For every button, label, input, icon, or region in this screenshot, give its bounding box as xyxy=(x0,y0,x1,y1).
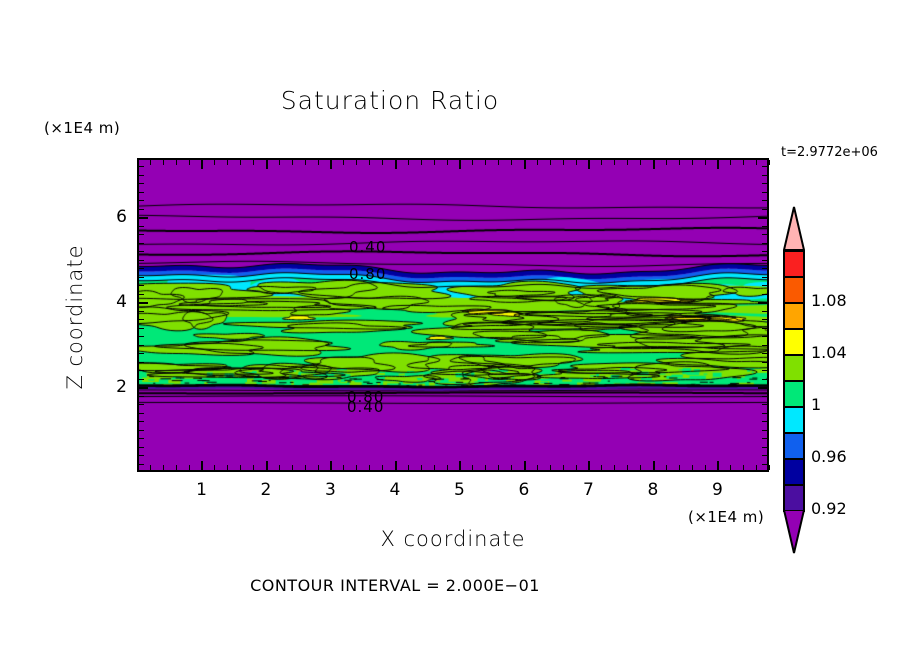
y-axis-tick xyxy=(139,294,144,295)
x-axis-title: X coordinate xyxy=(137,527,769,551)
y-axis-tick xyxy=(139,268,144,269)
x-axis-tick xyxy=(601,465,602,470)
colorbar-top-arrow xyxy=(783,206,805,250)
y-axis-tick xyxy=(139,226,144,227)
y-axis-unit-label: (×1E4 m) xyxy=(44,119,120,137)
y-axis-tick xyxy=(762,166,767,167)
x-axis-tick xyxy=(356,160,357,165)
x-axis-tick xyxy=(614,160,615,165)
x-axis-tick xyxy=(730,160,731,165)
x-axis-tick xyxy=(266,160,268,169)
colorbar-band xyxy=(783,302,805,330)
x-axis-tick xyxy=(201,461,203,470)
x-axis-tick xyxy=(640,160,641,165)
x-axis-tick-label: 9 xyxy=(702,480,732,500)
x-axis-tick xyxy=(511,465,512,470)
y-axis-tick xyxy=(139,345,144,346)
y-axis-tick xyxy=(762,192,767,193)
x-axis-tick xyxy=(266,461,268,470)
x-axis-tick xyxy=(692,160,693,165)
x-axis-tick xyxy=(459,160,461,169)
x-axis-tick xyxy=(382,160,383,165)
y-axis-tick xyxy=(762,396,767,397)
x-axis-tick xyxy=(189,465,190,470)
x-axis-tick xyxy=(330,461,332,470)
x-axis-tick xyxy=(679,160,680,165)
contour-field: 0.400.800.800.40 xyxy=(137,158,769,472)
x-axis-tick xyxy=(756,465,757,470)
y-axis-tick xyxy=(758,217,767,219)
x-axis-tick xyxy=(705,160,706,165)
colorbar-band xyxy=(783,328,805,356)
y-axis-tick xyxy=(139,166,144,167)
y-axis-tick xyxy=(762,260,767,261)
y-axis-tick xyxy=(762,370,767,371)
x-axis-tick xyxy=(588,160,590,169)
y-axis-tick xyxy=(762,328,767,329)
colorbar-tick-label: 1 xyxy=(811,395,821,414)
y-axis-tick xyxy=(139,336,144,337)
colorbar-band xyxy=(783,276,805,304)
y-axis-tick xyxy=(762,294,767,295)
y-axis-tick xyxy=(762,175,767,176)
x-axis-tick xyxy=(537,160,538,165)
x-axis-tick xyxy=(576,465,577,470)
y-axis-tick xyxy=(762,243,767,244)
x-axis-unit-label: (×1E4 m) xyxy=(688,508,764,526)
x-axis-tick xyxy=(227,160,228,165)
x-axis-tick xyxy=(511,160,512,165)
y-axis-tick xyxy=(762,345,767,346)
x-axis-tick xyxy=(279,465,280,470)
x-axis-tick xyxy=(343,465,344,470)
x-axis-tick xyxy=(524,461,526,470)
x-axis-tick xyxy=(550,160,551,165)
colorbar-tick-label: 0.92 xyxy=(811,499,847,518)
x-axis-tick xyxy=(240,465,241,470)
x-axis-tick xyxy=(150,465,151,470)
x-axis-tick xyxy=(498,465,499,470)
colorbar-band xyxy=(783,354,805,382)
x-axis-tick xyxy=(305,160,306,165)
y-axis-tick xyxy=(139,260,144,261)
y-axis-tick xyxy=(762,158,767,159)
x-axis-tick xyxy=(434,160,435,165)
x-axis-tick xyxy=(318,160,319,165)
x-axis-tick xyxy=(343,160,344,165)
colorbar-band xyxy=(783,484,805,512)
y-axis-tick xyxy=(139,353,144,354)
x-axis-tick xyxy=(408,160,409,165)
y-axis-tick xyxy=(139,464,144,465)
y-axis-tick xyxy=(139,455,144,456)
y-axis-tick xyxy=(139,243,144,244)
colorbar-tick-label: 0.96 xyxy=(811,447,847,466)
y-axis-tick xyxy=(139,396,144,397)
x-axis-tick xyxy=(653,461,655,470)
y-axis-tick xyxy=(762,268,767,269)
colorbar-band xyxy=(783,406,805,434)
x-axis-tick xyxy=(369,160,370,165)
x-axis-tick xyxy=(459,461,461,470)
x-axis-tick xyxy=(395,461,397,470)
contour-value-label: 0.40 xyxy=(349,238,386,256)
x-axis-tick xyxy=(240,160,241,165)
x-axis-tick xyxy=(382,465,383,470)
x-axis-tick xyxy=(537,465,538,470)
x-axis-tick xyxy=(214,465,215,470)
x-axis-tick xyxy=(227,465,228,470)
x-axis-tick xyxy=(163,160,164,165)
x-axis-tick xyxy=(201,160,203,169)
x-axis-tick xyxy=(563,465,564,470)
y-axis-tick xyxy=(139,277,144,278)
x-axis-tick-label: 1 xyxy=(186,480,216,500)
colorbar-band xyxy=(783,380,805,408)
y-axis-tick xyxy=(139,328,144,329)
y-axis-tick xyxy=(139,200,144,201)
x-axis-tick xyxy=(189,160,190,165)
y-axis-tick xyxy=(139,285,144,286)
x-axis-tick xyxy=(717,160,719,169)
x-axis-tick xyxy=(472,465,473,470)
x-axis-tick xyxy=(730,465,731,470)
x-axis-tick xyxy=(769,160,770,165)
x-axis-tick xyxy=(666,160,667,165)
x-axis-tick-label: 8 xyxy=(638,480,668,500)
x-axis-tick-label: 4 xyxy=(380,480,410,500)
x-axis-tick xyxy=(421,160,422,165)
x-axis-tick xyxy=(305,465,306,470)
x-axis-tick xyxy=(627,465,628,470)
x-axis-tick xyxy=(717,461,719,470)
x-axis-tick xyxy=(163,465,164,470)
y-axis-tick xyxy=(762,413,767,414)
colorbar-band xyxy=(783,458,805,486)
y-axis-tick xyxy=(139,362,144,363)
x-axis-tick xyxy=(524,160,526,169)
colorbar: 1.081.0410.960.92 xyxy=(783,206,805,516)
y-axis-tick xyxy=(762,421,767,422)
contour-plot-figure: Saturation Ratio (×1E4 m) t=2.9772e+06 0… xyxy=(0,0,904,654)
y-axis-tick xyxy=(139,430,144,431)
x-axis-tick xyxy=(434,465,435,470)
x-axis-tick xyxy=(743,160,744,165)
x-axis-tick xyxy=(292,465,293,470)
x-axis-tick xyxy=(550,465,551,470)
time-annotation: t=2.9772e+06 xyxy=(781,145,878,160)
x-axis-tick xyxy=(253,160,254,165)
contour-value-label: 0.40 xyxy=(347,398,384,416)
x-axis-tick xyxy=(563,160,564,165)
x-axis-tick xyxy=(176,465,177,470)
y-axis-tick xyxy=(139,447,144,448)
y-axis-tick xyxy=(758,302,767,304)
x-axis-tick xyxy=(253,465,254,470)
x-axis-tick xyxy=(614,465,615,470)
y-axis-tick xyxy=(762,447,767,448)
y-axis-tick-label: 2 xyxy=(97,377,127,397)
x-axis-tick xyxy=(627,160,628,165)
x-axis-tick xyxy=(666,465,667,470)
x-axis-tick xyxy=(588,461,590,470)
x-axis-tick-label: 3 xyxy=(315,480,345,500)
y-axis-tick xyxy=(762,438,767,439)
y-axis-tick xyxy=(139,251,144,252)
x-axis-tick xyxy=(743,465,744,470)
y-axis-tick xyxy=(762,430,767,431)
y-axis-tick xyxy=(139,183,144,184)
y-axis-tick xyxy=(758,387,767,389)
x-axis-tick xyxy=(640,465,641,470)
x-axis-tick xyxy=(472,160,473,165)
x-axis-tick xyxy=(498,160,499,165)
y-axis-tick xyxy=(139,413,144,414)
x-axis-tick xyxy=(576,160,577,165)
x-axis-tick xyxy=(653,160,655,169)
y-axis-tick xyxy=(139,387,148,389)
x-axis-tick xyxy=(421,465,422,470)
y-axis-tick-label: 6 xyxy=(97,207,127,227)
y-axis-tick xyxy=(139,234,144,235)
y-axis-tick xyxy=(139,192,144,193)
colorbar-band xyxy=(783,250,805,278)
y-axis-tick xyxy=(139,175,144,176)
y-axis-tick xyxy=(762,336,767,337)
x-axis-tick xyxy=(292,160,293,165)
x-axis-tick xyxy=(601,160,602,165)
y-axis-tick xyxy=(762,209,767,210)
y-axis-tick xyxy=(762,285,767,286)
y-axis-tick xyxy=(139,311,144,312)
x-axis-tick xyxy=(769,465,770,470)
x-axis-tick xyxy=(176,160,177,165)
y-axis-tick xyxy=(762,277,767,278)
y-axis-tick xyxy=(139,404,144,405)
y-axis-tick xyxy=(762,251,767,252)
y-axis-tick xyxy=(762,311,767,312)
contour-canvas xyxy=(139,160,767,470)
x-axis-tick xyxy=(705,465,706,470)
y-axis-tick xyxy=(762,226,767,227)
y-axis-tick xyxy=(762,404,767,405)
y-axis-tick xyxy=(762,200,767,201)
x-axis-tick-label: 7 xyxy=(573,480,603,500)
x-axis-tick xyxy=(330,160,332,169)
x-axis-tick xyxy=(356,465,357,470)
y-axis-tick xyxy=(139,217,148,219)
x-axis-tick-label: 5 xyxy=(444,480,474,500)
y-axis-tick xyxy=(139,158,144,159)
y-axis-tick xyxy=(762,353,767,354)
y-axis-tick xyxy=(762,455,767,456)
x-axis-tick xyxy=(692,465,693,470)
x-axis-tick-label: 2 xyxy=(251,480,281,500)
y-axis-tick xyxy=(762,319,767,320)
y-axis-tick xyxy=(139,209,144,210)
colorbar-tick-label: 1.04 xyxy=(811,343,847,362)
x-axis-tick xyxy=(485,465,486,470)
contour-interval-note: CONTOUR INTERVAL = 2.000E−01 xyxy=(0,576,790,595)
contour-value-label: 0.80 xyxy=(349,265,386,283)
y-axis-title: Z coordinate xyxy=(63,217,87,417)
y-axis-tick xyxy=(139,379,144,380)
y-axis-tick xyxy=(139,421,144,422)
x-axis-tick xyxy=(485,160,486,165)
x-axis-tick-label: 6 xyxy=(509,480,539,500)
x-axis-tick xyxy=(279,160,280,165)
colorbar-tick-label: 1.08 xyxy=(811,291,847,310)
page-title: Saturation Ratio xyxy=(0,86,780,115)
x-axis-tick xyxy=(369,465,370,470)
x-axis-tick xyxy=(150,160,151,165)
y-axis-tick xyxy=(762,183,767,184)
y-axis-tick xyxy=(762,464,767,465)
y-axis-tick xyxy=(139,438,144,439)
colorbar-band xyxy=(783,432,805,460)
y-axis-tick-label: 4 xyxy=(97,292,127,312)
y-axis-tick xyxy=(139,319,144,320)
x-axis-tick xyxy=(447,160,448,165)
x-axis-tick xyxy=(679,465,680,470)
x-axis-tick xyxy=(395,160,397,169)
x-axis-tick xyxy=(408,465,409,470)
x-axis-tick xyxy=(447,465,448,470)
y-axis-tick xyxy=(762,362,767,363)
y-axis-tick xyxy=(139,302,148,304)
colorbar-bottom-arrow xyxy=(783,510,805,554)
x-axis-tick xyxy=(318,465,319,470)
y-axis-tick xyxy=(762,379,767,380)
y-axis-tick xyxy=(139,370,144,371)
x-axis-tick xyxy=(756,160,757,165)
x-axis-tick xyxy=(214,160,215,165)
y-axis-tick xyxy=(762,234,767,235)
